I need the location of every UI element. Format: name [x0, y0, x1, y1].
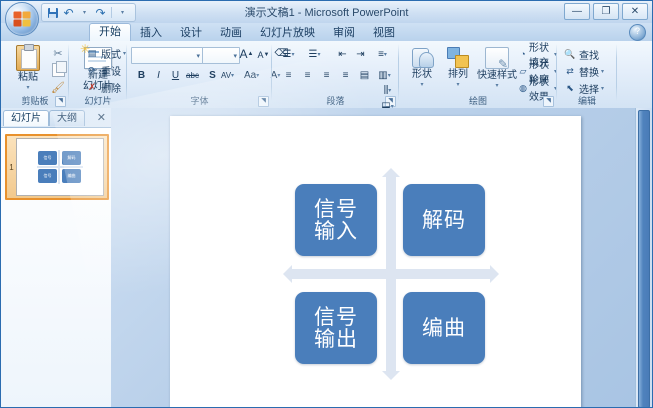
shape-signal-output-line1: 信号	[314, 306, 358, 328]
paste-dropdown-icon[interactable]: ▾	[26, 83, 29, 94]
font-size-input[interactable]: ▾	[202, 47, 240, 64]
italic-button[interactable]: I	[150, 68, 167, 83]
grow-font-label: A	[240, 47, 248, 61]
tab-review[interactable]: 审阅	[324, 25, 364, 41]
shape-effects-icon: ◍	[519, 81, 527, 95]
grow-font-button[interactable]: A▲	[238, 46, 255, 61]
shape-effects-button[interactable]: ◍ 形状效果 ▾	[519, 81, 557, 95]
shapes-button[interactable]: 形状 ▾	[405, 46, 439, 91]
slide-work-area: 信号 输入 解码 信号 输出 编曲	[111, 108, 652, 407]
undo-dropdown-icon[interactable]: ▾	[77, 6, 92, 20]
strikethrough-button[interactable]: abc	[184, 68, 201, 83]
shape-signal-input-line2: 输入	[314, 220, 358, 242]
tab-animations[interactable]: 动画	[211, 25, 251, 41]
format-painter-button[interactable]: 🖌	[51, 80, 65, 94]
replace-icon: ⇄	[563, 64, 577, 78]
paste-button[interactable]: 粘贴 ▾	[7, 45, 49, 94]
cut-button[interactable]: ✂	[51, 46, 65, 60]
copy-icon	[51, 63, 65, 77]
slide-canvas[interactable]: 信号 输入 解码 信号 输出 编曲	[170, 116, 581, 408]
clipboard-dialog-launcher[interactable]: ◥	[55, 96, 66, 107]
reset-label: 重设	[101, 63, 121, 78]
shape-signal-output-line2: 输出	[314, 328, 358, 350]
font-name-input[interactable]: ▾	[131, 47, 203, 64]
reset-button[interactable]: ⟳ 重设	[85, 63, 121, 77]
shapes-label: 形状	[412, 69, 432, 80]
layout-dropdown-icon[interactable]: ▾	[123, 50, 126, 57]
customize-qat-icon[interactable]: ▾	[115, 6, 130, 20]
office-logo-icon	[14, 12, 31, 27]
shape-signal-output[interactable]: 信号 输出	[295, 292, 377, 364]
close-button[interactable]: ✕	[622, 3, 648, 20]
shape-decode-line1: 解码	[422, 209, 466, 231]
layout-button[interactable]: ▤ 版式 ▾	[85, 46, 126, 60]
paste-icon	[16, 45, 40, 71]
paste-label: 粘贴	[18, 72, 38, 83]
shapes-icon	[411, 46, 433, 68]
thumbnail-box-bottom-left: 信号	[38, 169, 57, 183]
thumbnail-box-top-left: 信号	[38, 151, 57, 165]
delete-label: 删除	[101, 80, 121, 95]
copy-button[interactable]	[51, 63, 65, 77]
ribbon-group-drawing: 形状 ▾ 排列 ▾ 快速样式 ▾ ◔ 形状填充 ▾ ▱ 形状轮廓 ▾	[399, 41, 557, 108]
horizontal-axis-arrow-icon	[291, 269, 491, 279]
bullets-button[interactable]: ☰▾	[280, 47, 297, 62]
qat-separator	[111, 7, 112, 18]
paintbrush-icon: 🖌	[51, 80, 65, 94]
find-button[interactable]: 🔍 查找	[563, 47, 599, 61]
bold-button[interactable]: B	[133, 68, 150, 83]
save-icon[interactable]	[45, 6, 60, 20]
tab-design[interactable]: 设计	[171, 25, 211, 41]
select-button[interactable]: ⬉ 选择 ▾	[563, 81, 604, 95]
vertical-scrollbar-thumb[interactable]	[638, 110, 650, 408]
font-size-dropdown-icon[interactable]: ▾	[233, 52, 237, 60]
arrange-button[interactable]: 排列 ▾	[441, 46, 475, 91]
window-controls: — ❐ ✕	[564, 3, 648, 20]
quadrant-diagram[interactable]: 信号 输入 解码 信号 输出 编曲	[291, 176, 491, 372]
layout-label: 版式	[101, 46, 121, 61]
binoculars-icon: 🔍	[563, 47, 577, 61]
reset-icon: ⟳	[85, 63, 99, 77]
font-name-dropdown-icon[interactable]: ▾	[196, 52, 200, 60]
delete-icon: ✗	[85, 80, 99, 94]
powerpoint-window: 演示文稿1 - Microsoft PowerPoint — ❐ ✕ ↶ ▾ ↷…	[0, 0, 653, 408]
ribbon-group-editing: 🔍 查找 ⇄ 替换 ▾ ⬉ 选择 ▾ 编辑	[557, 41, 617, 108]
underline-button[interactable]: U	[167, 68, 184, 83]
shrink-font-button[interactable]: A▼	[255, 47, 272, 62]
undo-icon[interactable]: ↶	[61, 6, 76, 20]
cursor-icon: ⬉	[563, 81, 577, 95]
editing-group-label: 编辑	[557, 94, 617, 107]
pane-tab-slides[interactable]: 幻灯片	[3, 110, 49, 126]
redo-icon[interactable]: ↷	[93, 6, 108, 20]
ribbon-group-clipboard: 粘贴 ▾ ✂ 🖌 剪贴板 ◥	[1, 41, 69, 108]
quick-styles-icon	[485, 47, 509, 69]
slide-number-label: 1	[7, 163, 16, 172]
tab-insert[interactable]: 插入	[131, 25, 171, 41]
scissors-icon: ✂	[51, 46, 65, 60]
shape-fill-icon: ◔	[519, 47, 527, 61]
quick-styles-button[interactable]: 快速样式 ▾	[477, 47, 517, 92]
shape-arrangement[interactable]: 编曲	[403, 292, 485, 364]
drawing-dialog-launcher[interactable]: ◥	[543, 96, 554, 107]
shape-decode[interactable]: 解码	[403, 184, 485, 256]
shape-outline-icon: ▱	[519, 64, 527, 78]
drawing-group-label: 绘图	[399, 94, 557, 107]
shape-arrangement-line1: 编曲	[422, 317, 466, 339]
office-button[interactable]	[5, 2, 39, 36]
restore-button[interactable]: ❐	[593, 3, 619, 20]
arrange-label: 排列	[448, 69, 468, 80]
layout-icon: ▤	[85, 46, 99, 60]
delete-slide-button[interactable]: ✗ 删除	[85, 80, 121, 94]
tab-home[interactable]: 开始	[89, 23, 131, 41]
replace-label: 替换	[579, 64, 599, 79]
tab-slideshow[interactable]: 幻灯片放映	[251, 25, 324, 41]
shape-signal-input[interactable]: 信号 输入	[295, 184, 377, 256]
shape-signal-input-line1: 信号	[314, 198, 358, 220]
minimize-button[interactable]: —	[564, 3, 590, 20]
arrange-icon	[447, 46, 469, 68]
find-label: 查找	[579, 47, 599, 62]
group-separator	[616, 44, 617, 101]
vertical-scrollbar[interactable]	[635, 108, 652, 407]
quick-access-toolbar: ↶ ▾ ↷ ▾	[41, 3, 136, 22]
help-icon[interactable]: ?	[629, 24, 646, 41]
ribbon-tabs: 开始 插入 设计 动画 幻灯片放映 审阅 视图	[89, 23, 404, 41]
quick-styles-label: 快速样式	[477, 70, 517, 81]
bullets-icon: ☰	[283, 49, 292, 60]
tab-view[interactable]: 视图	[364, 25, 404, 41]
replace-button[interactable]: ⇄ 替换 ▾	[563, 64, 604, 78]
